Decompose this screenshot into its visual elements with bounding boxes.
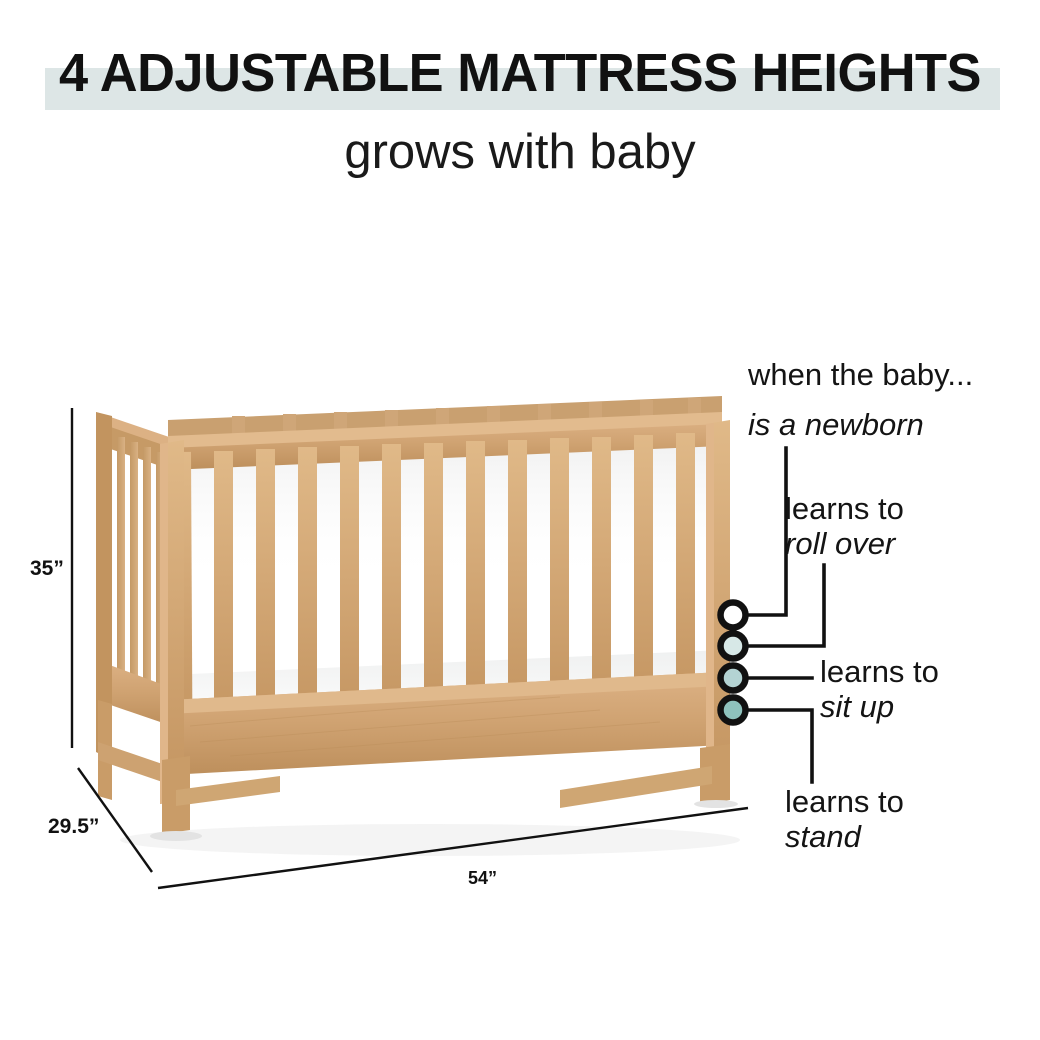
infographic-canvas: 4 ADJUSTABLE MATTRESS HEIGHTS grows with…: [0, 0, 1040, 1040]
annotation-intro: when the baby...: [748, 358, 973, 393]
annotation-stand-line1: learns to: [785, 785, 904, 820]
mattress-dot-newborn: [721, 603, 746, 628]
annotation-rollover: learns to roll over: [785, 492, 904, 561]
dimension-label-depth: 29.5”: [48, 815, 99, 839]
annotation-stand-line2: stand: [785, 820, 904, 855]
annotation-newborn: is a newborn: [748, 408, 924, 443]
mattress-dot-stand: [721, 698, 746, 723]
annotation-rollover-line2: roll over: [785, 527, 904, 562]
mattress-dot-situp: [721, 666, 746, 691]
annotation-newborn-line2: is a newborn: [748, 408, 924, 443]
annotation-intro-text: when the baby...: [748, 358, 973, 393]
annotation-situp: learns to sit up: [820, 655, 939, 724]
annotation-stand: learns to stand: [785, 785, 904, 854]
dimension-label-width: 54”: [468, 868, 497, 889]
mattress-dot-rollover: [721, 634, 746, 659]
annotation-rollover-line1: learns to: [785, 492, 904, 527]
dimension-label-height: 35”: [30, 557, 64, 581]
annotation-situp-line2: sit up: [820, 690, 939, 725]
annotation-situp-line1: learns to: [820, 655, 939, 690]
